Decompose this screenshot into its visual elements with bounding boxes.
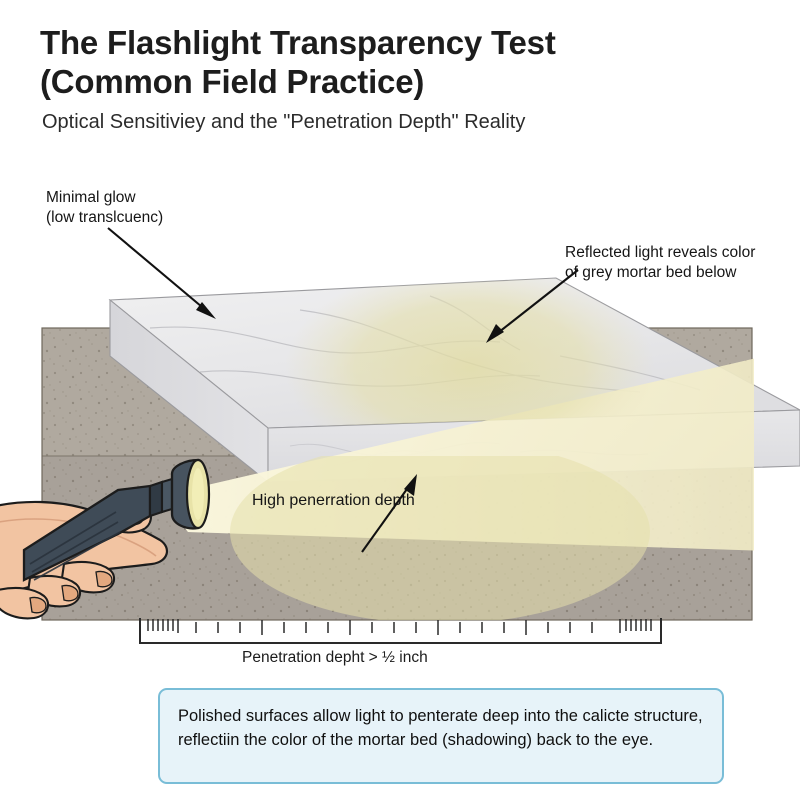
ruler [138, 616, 663, 646]
ruler-ticks [140, 618, 661, 638]
illustration-stage [0, 160, 800, 630]
callout-box: Polished surfaces allow light to pentera… [158, 688, 724, 784]
page-subtitle: Optical Sensitiviey and the "Penetration… [42, 110, 760, 134]
callout-text: Polished surfaces allow light to pentera… [178, 704, 704, 753]
ruler-caption: Penetration depht > ½ inch [242, 649, 428, 667]
glow-on-mortar [230, 440, 650, 624]
page-title: The Flashlight Transparency Test (Common… [40, 24, 760, 102]
annotation-penetration-depth: High penerration depth [252, 491, 415, 511]
annotation-minimal-glow: Minimal glow (low translcuenc) [46, 188, 163, 228]
annotation-reflected-light: Reflected light reveals color of grey mo… [565, 243, 755, 283]
header: The Flashlight Transparency Test (Common… [40, 24, 760, 134]
diagram-page: The Flashlight Transparency Test (Common… [0, 0, 800, 800]
